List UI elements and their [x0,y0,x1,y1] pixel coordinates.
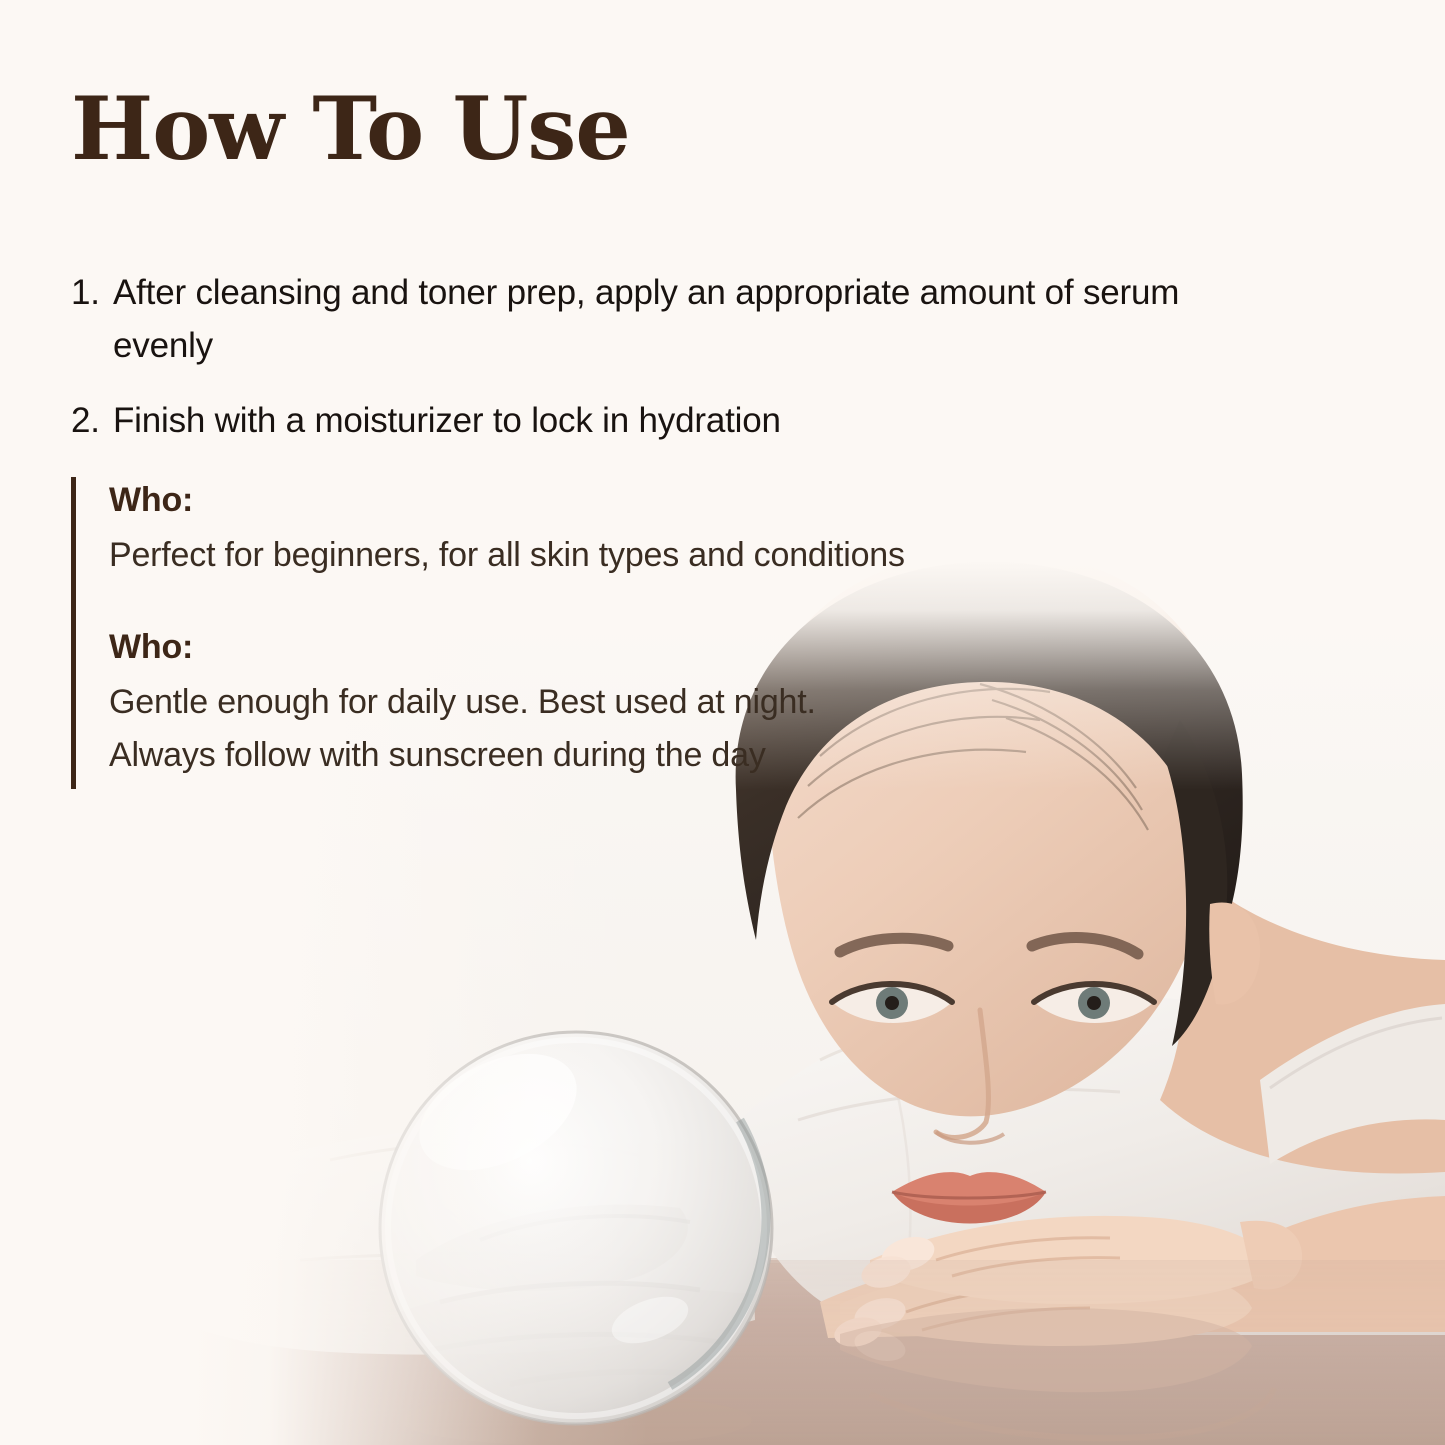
note-item: Who: Gentle enough for daily use. Best u… [109,626,1071,783]
note-body: Perfect for beginners, for all skin type… [109,529,1071,583]
step-text: After cleansing and toner prep, apply an… [113,266,1231,372]
usage-steps-list: 1. After cleansing and toner prep, apply… [71,266,1231,470]
how-to-use-card: How To Use 1. After cleansing and toner … [0,0,1445,1445]
note-line: Perfect for beginners, for all skin type… [109,529,1071,583]
note-item: Who: Perfect for beginners, for all skin… [109,479,1071,582]
notes-blockquote: Who: Perfect for beginners, for all skin… [71,477,1071,789]
list-item: 2. Finish with a moisturizer to lock in … [71,394,1231,447]
note-line: Always follow with sunscreen during the … [109,729,1071,783]
note-line: Gentle enough for daily use. Best used a… [109,676,1071,730]
note-body: Gentle enough for daily use. Best used a… [109,676,1071,783]
page-title: How To Use [71,85,630,172]
table-reflection [180,1260,1445,1445]
step-number: 1. [71,266,113,319]
step-number: 2. [71,394,113,447]
note-label: Who: [109,626,1071,670]
note-label: Who: [109,479,1071,523]
step-text: Finish with a moisturizer to lock in hyd… [113,394,1231,447]
list-item: 1. After cleansing and toner prep, apply… [71,266,1231,372]
